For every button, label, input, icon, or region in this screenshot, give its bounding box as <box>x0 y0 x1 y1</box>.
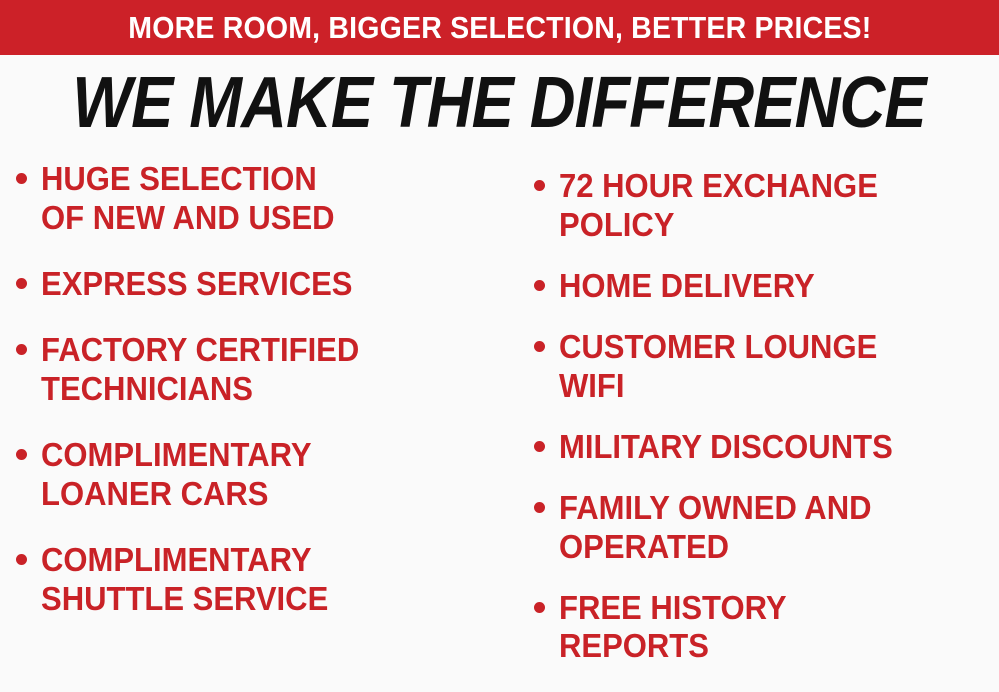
feature-label: HOME DELIVERY <box>559 267 973 306</box>
list-item: 72 HOUR EXCHANGE POLICY <box>534 167 999 245</box>
feature-label: MILITARY DISCOUNTS <box>559 428 973 467</box>
bullet-dot-icon <box>16 554 27 565</box>
bullet-dot-icon <box>16 278 27 289</box>
bullet-dot-icon <box>534 441 545 452</box>
feature-label: 72 HOUR EXCHANGE POLICY <box>559 167 973 245</box>
list-item: EXPRESS SERVICES <box>16 265 512 304</box>
header-banner-bar: MORE ROOM, BIGGER SELECTION, BETTER PRIC… <box>0 0 999 55</box>
feature-label: COMPLIMENTARY SHUTTLE SERVICE <box>41 541 484 619</box>
feature-label: FAMILY OWNED AND OPERATED <box>559 489 973 567</box>
bullet-dot-icon <box>534 502 545 513</box>
bullet-dot-icon <box>534 602 545 613</box>
features-column-left: HUGE SELECTION OF NEW AND USED EXPRESS S… <box>0 155 512 618</box>
features-columns: HUGE SELECTION OF NEW AND USED EXPRESS S… <box>0 155 999 692</box>
list-item: FAMILY OWNED AND OPERATED <box>534 489 999 567</box>
list-item: FACTORY CERTIFIED TECHNICIANS <box>16 331 512 409</box>
list-item: COMPLIMENTARY LOANER CARS <box>16 436 512 514</box>
list-item: COMPLIMENTARY SHUTTLE SERVICE <box>16 541 512 619</box>
feature-list-left: HUGE SELECTION OF NEW AND USED EXPRESS S… <box>16 160 512 618</box>
feature-list-right: 72 HOUR EXCHANGE POLICY HOME DELIVERY CU… <box>534 167 999 666</box>
features-column-right: 72 HOUR EXCHANGE POLICY HOME DELIVERY CU… <box>512 155 999 666</box>
bullet-dot-icon <box>534 341 545 352</box>
bullet-dot-icon <box>16 173 27 184</box>
bullet-dot-icon <box>16 344 27 355</box>
headline-container: WE MAKE THE DIFFERENCE <box>0 62 999 144</box>
feature-label: FREE HISTORY REPORTS <box>559 589 973 667</box>
list-item: HOME DELIVERY <box>534 267 999 306</box>
feature-label: COMPLIMENTARY LOANER CARS <box>41 436 484 514</box>
header-tagline: MORE ROOM, BIGGER SELECTION, BETTER PRIC… <box>128 12 871 43</box>
bullet-dot-icon <box>16 449 27 460</box>
feature-label: FACTORY CERTIFIED TECHNICIANS <box>41 331 484 409</box>
feature-label: HUGE SELECTION OF NEW AND USED <box>41 160 484 238</box>
list-item: HUGE SELECTION OF NEW AND USED <box>16 160 512 238</box>
list-item: CUSTOMER LOUNGE WIFI <box>534 328 999 406</box>
page-title: WE MAKE THE DIFFERENCE <box>73 67 927 139</box>
feature-label: EXPRESS SERVICES <box>41 265 484 304</box>
bullet-dot-icon <box>534 180 545 191</box>
list-item: FREE HISTORY REPORTS <box>534 589 999 667</box>
feature-label: CUSTOMER LOUNGE WIFI <box>559 328 973 406</box>
promotional-banner: MORE ROOM, BIGGER SELECTION, BETTER PRIC… <box>0 0 999 692</box>
list-item: MILITARY DISCOUNTS <box>534 428 999 467</box>
bullet-dot-icon <box>534 280 545 291</box>
